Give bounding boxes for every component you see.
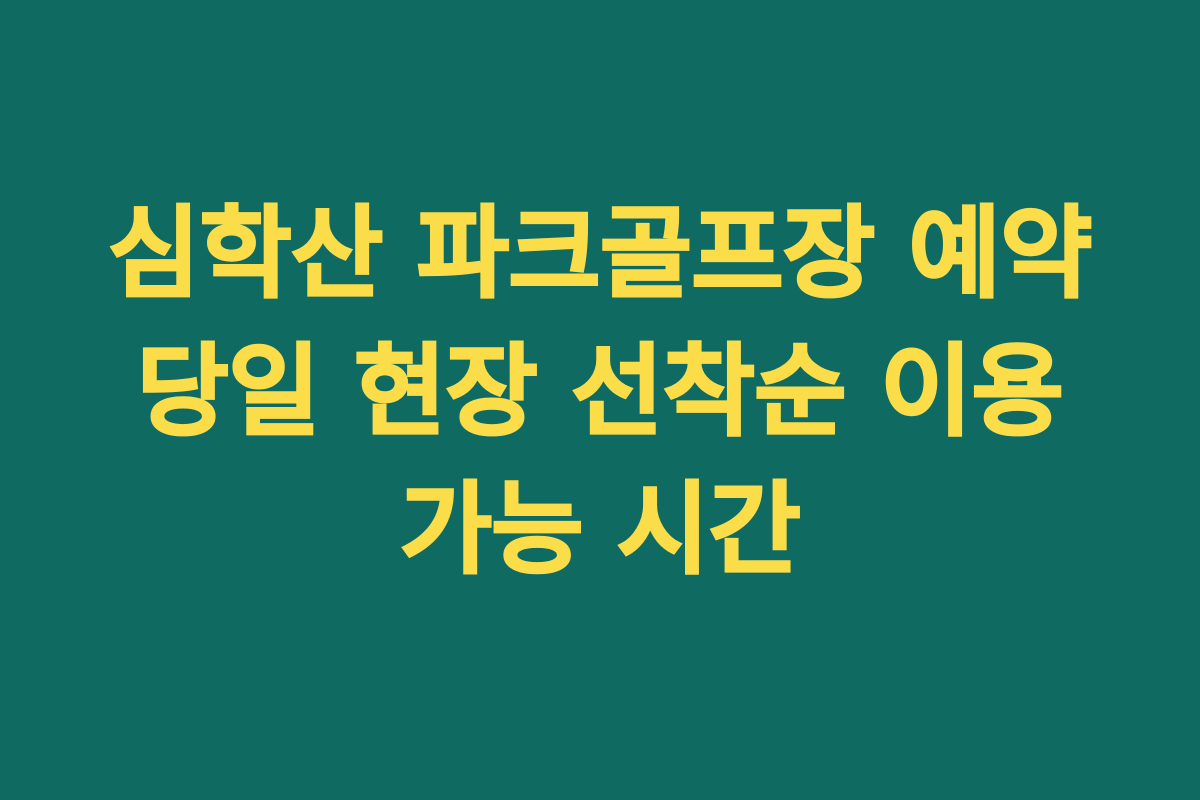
headline-line-2: 당일 현장 선착순 이용 — [24, 323, 1176, 461]
headline-line-1: 심학산 파크골프장 예약 — [24, 185, 1176, 323]
headline-block: 심학산 파크골프장 예약 당일 현장 선착순 이용 가능 시간 — [0, 185, 1200, 599]
thumbnail-canvas: 심학산 파크골프장 예약 당일 현장 선착순 이용 가능 시간 — [0, 0, 1200, 800]
headline-line-3: 가능 시간 — [24, 461, 1176, 599]
